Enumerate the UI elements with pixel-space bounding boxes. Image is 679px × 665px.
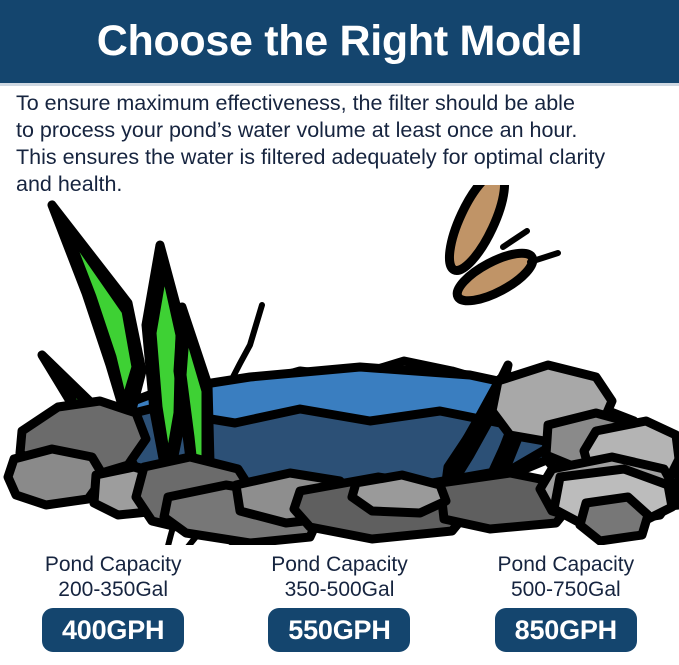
flow-badge-3: 850GPH	[495, 608, 637, 652]
description-text: To ensure maximum effectiveness, the fil…	[16, 90, 671, 198]
capacity-range-3: 500-750Gal	[511, 577, 621, 602]
header-divider	[0, 83, 679, 86]
capacity-column-3: Pond Capacity 500-750Gal 850GPH	[453, 552, 679, 665]
page-title: Choose the Right Model	[97, 20, 583, 63]
flow-badge-2: 550GPH	[268, 608, 410, 652]
capacity-label-2: Pond Capacity	[271, 552, 408, 577]
rock-right-6	[580, 497, 648, 541]
capacity-range-2: 350-500Gal	[285, 577, 395, 602]
pond-illustration	[0, 185, 679, 545]
header-banner: Choose the Right Model	[0, 0, 679, 83]
rock-center-small	[352, 475, 446, 513]
capacity-column-2: Pond Capacity 350-500Gal 550GPH	[226, 552, 452, 665]
description-line-1: To ensure maximum effectiveness, the fil…	[16, 90, 671, 117]
cattail-heads	[439, 185, 539, 310]
rock-left-2	[8, 449, 104, 505]
description-line-3: This ensures the water is filtered adequ…	[16, 144, 671, 171]
capacity-label-1: Pond Capacity	[45, 552, 182, 577]
capacity-column-1: Pond Capacity 200-350Gal 400GPH	[0, 552, 226, 665]
capacity-label-3: Pond Capacity	[498, 552, 635, 577]
description-line-2: to process your pond’s water volume at l…	[16, 117, 671, 144]
capacity-range-1: 200-350Gal	[58, 577, 168, 602]
capacity-row: Pond Capacity 200-350Gal 400GPH Pond Cap…	[0, 552, 679, 665]
flow-badge-1: 400GPH	[42, 608, 184, 652]
